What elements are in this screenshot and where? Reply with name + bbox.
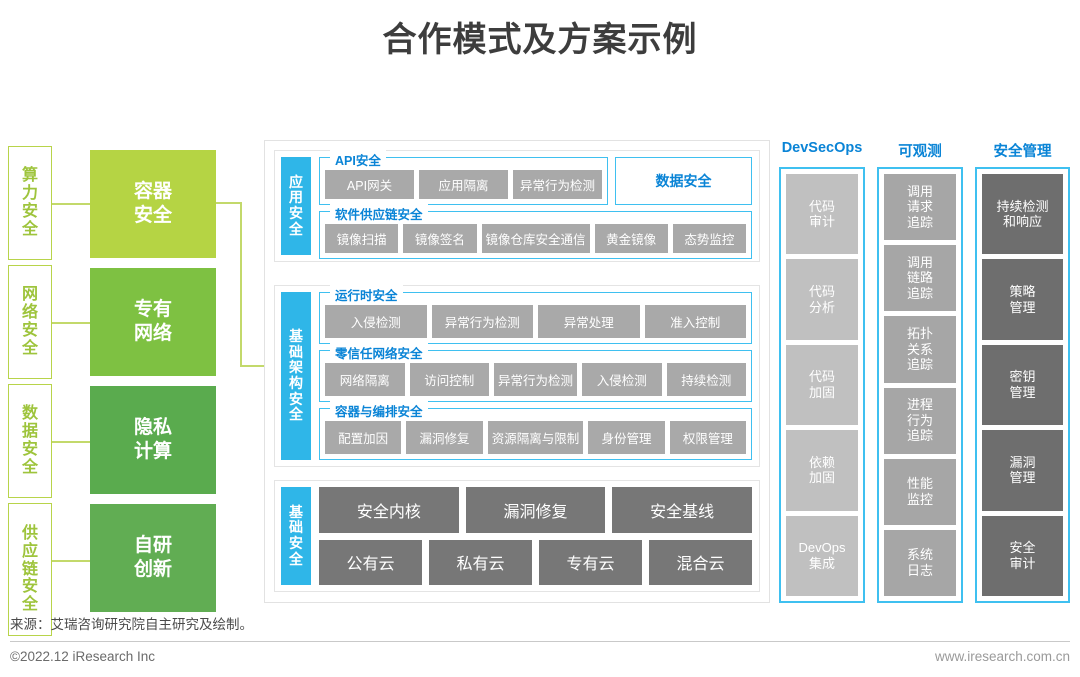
chip-vulnerability-fix[interactable]: 漏洞修复 <box>406 421 482 454</box>
item-topology-relation-tracing[interactable]: 拓扑 关系 追踪 <box>884 316 956 382</box>
chip-image-scan[interactable]: 镜像扫描 <box>325 224 398 253</box>
band-label-application-security: 应用安全 <box>281 157 311 255</box>
item-line2: 管理 <box>1009 300 1035 316</box>
item-line1: 进程 <box>907 397 933 413</box>
bracket-bottom-line <box>240 365 264 367</box>
chip-anomaly-behavior-detection[interactable]: 异常行为检测 <box>513 170 602 199</box>
chip-api-gateway[interactable]: API网关 <box>325 170 414 199</box>
chip-anomaly-behavior-detection[interactable]: 异常行为检测 <box>494 363 577 396</box>
item-performance-monitoring[interactable]: 性能 监控 <box>884 459 956 525</box>
pillar-line2: 计算 <box>134 440 172 464</box>
item-line3: 追踪 <box>907 357 933 373</box>
item-line2: 管理 <box>1009 385 1035 401</box>
item-line1: 代码 <box>809 284 835 300</box>
item-line2: 请求 <box>907 199 933 215</box>
group-legend: 软件供应链安全 <box>330 204 428 223</box>
item-dependency-hardening[interactable]: 依赖 加固 <box>786 430 858 510</box>
item-line2: 监控 <box>907 492 933 508</box>
box-data-security[interactable]: 数据安全 <box>615 157 752 205</box>
column-title-security-management: 安全管理 <box>975 140 1070 161</box>
item-vulnerability-management[interactable]: 漏洞 管理 <box>982 430 1063 510</box>
connector-line-1 <box>52 203 90 205</box>
chip-app-isolation[interactable]: 应用隔离 <box>419 170 508 199</box>
chip-intrusion-detection[interactable]: 入侵检测 <box>325 305 427 338</box>
chip-access-control[interactable]: 访问控制 <box>410 363 490 396</box>
chip-vulnerability-fix[interactable]: 漏洞修复 <box>466 487 606 533</box>
chip-network-isolation[interactable]: 网络隔离 <box>325 363 405 396</box>
group-api-security: API安全 API网关 应用隔离 异常行为检测 <box>319 157 608 205</box>
left-category-labels: 算力安全 网络安全 数据安全 供应链安全 <box>8 146 52 636</box>
item-line2: 分析 <box>809 300 835 316</box>
item-line2: 加固 <box>809 470 835 486</box>
item-process-behavior-tracing[interactable]: 进程 行为 追踪 <box>884 388 956 454</box>
item-line3: 追踪 <box>907 215 933 231</box>
connector-line-2 <box>52 322 90 324</box>
item-line1: DevOps <box>799 540 846 556</box>
column-devsecops: DevSecOps 代码 审计 代码 分析 代码 加固 <box>779 167 865 603</box>
chip-registry-secure-comm[interactable]: 镜像仓库安全通信 <box>482 224 590 253</box>
group-legend: 零信任网络安全 <box>330 343 428 362</box>
band-label-text: 应用安全 <box>289 175 304 238</box>
pillar-line2: 安全 <box>134 204 172 228</box>
pillar-line1: 自研 <box>134 534 172 558</box>
left-label-data-security: 数据安全 <box>8 384 52 498</box>
item-line1: 系统 <box>907 547 933 563</box>
item-key-management[interactable]: 密钥 管理 <box>982 345 1063 425</box>
item-line1: 代码 <box>809 369 835 385</box>
item-continuous-detection-response[interactable]: 持续检测 和响应 <box>982 174 1063 254</box>
band-body: 安全内核 漏洞修复 安全基线 公有云 私有云 专有云 混合云 <box>311 481 759 591</box>
website-url: www.iresearch.com.cn <box>935 649 1070 664</box>
left-label-network-security: 网络安全 <box>8 265 52 379</box>
page-title: 合作模式及方案示例 <box>0 12 1080 61</box>
chip-permission-management[interactable]: 权限管理 <box>670 421 746 454</box>
item-line1: 漏洞 <box>1009 455 1035 471</box>
item-line1: 调用 <box>907 255 933 271</box>
group-software-supply-chain-security: 软件供应链安全 镜像扫描 镜像签名 镜像仓库安全通信 黄金镜像 态势监控 <box>319 211 752 259</box>
band-infrastructure-security: 基础架构安全 运行时安全 入侵检测 异常行为检测 异常处理 准入控制 零信任网络… <box>274 285 760 467</box>
item-code-audit[interactable]: 代码 审计 <box>786 174 858 254</box>
item-line1: 持续检测 <box>996 199 1048 215</box>
item-line1: 安全 <box>1009 540 1035 556</box>
item-line1: 拓扑 <box>907 326 933 342</box>
item-line1: 性能 <box>907 476 933 492</box>
item-line2: 管理 <box>1009 470 1035 486</box>
band-label-text: 基础架构安全 <box>289 329 304 423</box>
item-line2: 行为 <box>907 413 933 429</box>
item-call-request-tracing[interactable]: 调用 请求 追踪 <box>884 174 956 240</box>
item-line1: 代码 <box>809 199 835 215</box>
pillar-self-research-innovation[interactable]: 自研 创新 <box>90 504 216 612</box>
base-security-row-1: 安全内核 漏洞修复 安全基线 <box>319 487 752 533</box>
pillar-line2: 创新 <box>134 558 172 582</box>
chip-dedicated-cloud[interactable]: 专有云 <box>539 540 642 586</box>
pillar-private-network[interactable]: 专有 网络 <box>90 268 216 376</box>
chip-secure-kernel[interactable]: 安全内核 <box>319 487 459 533</box>
chip-anomaly-handling[interactable]: 异常处理 <box>538 305 640 338</box>
group-container-orchestration-security: 容器与编排安全 配置加因 漏洞修复 资源隔离与限制 身份管理 权限管理 <box>319 408 752 460</box>
pillar-line1: 隐私 <box>134 416 172 440</box>
column-security-management: 安全管理 持续检测 和响应 策略 管理 密钥 管理 <box>975 167 1070 603</box>
band-body: API安全 API网关 应用隔离 异常行为检测 数据安全 软件供应链安全 镜像扫… <box>311 151 759 261</box>
band-label-base-security: 基础安全 <box>281 487 311 585</box>
item-system-logs[interactable]: 系统 日志 <box>884 530 956 596</box>
group-legend: 运行时安全 <box>330 285 403 304</box>
group-zero-trust-network-security: 零信任网络安全 网络隔离 访问控制 异常行为检测 入侵检测 持续检测 <box>319 350 752 402</box>
column-frame: 持续检测 和响应 策略 管理 密钥 管理 漏洞 管理 <box>975 167 1070 603</box>
main-architecture-panel: 应用安全 API安全 API网关 应用隔离 异常行为检测 数据安全 软件供应链安… <box>264 140 770 603</box>
chip-continuous-detection[interactable]: 持续检测 <box>667 363 747 396</box>
group-runtime-security: 运行时安全 入侵检测 异常行为检测 异常处理 准入控制 <box>319 292 752 344</box>
item-line1: 策略 <box>1009 284 1035 300</box>
item-line1: 密钥 <box>1009 369 1035 385</box>
green-pillar-column: 容器 安全 专有 网络 隐私 计算 自研 创新 <box>90 150 216 612</box>
group-legend: 容器与编排安全 <box>330 401 428 420</box>
item-policy-management[interactable]: 策略 管理 <box>982 259 1063 339</box>
pillar-privacy-computing[interactable]: 隐私 计算 <box>90 386 216 494</box>
item-line2: 加固 <box>809 385 835 401</box>
connector-line-4 <box>52 560 90 562</box>
chip-hybrid-cloud[interactable]: 混合云 <box>649 540 752 586</box>
chip-posture-monitoring[interactable]: 态势监控 <box>673 224 746 253</box>
chip-image-signing[interactable]: 镜像签名 <box>403 224 476 253</box>
chip-public-cloud[interactable]: 公有云 <box>319 540 422 586</box>
item-line2: 集成 <box>799 556 846 572</box>
connector-line-3 <box>52 441 90 443</box>
item-line2: 审计 <box>1009 556 1035 572</box>
chip-admission-control[interactable]: 准入控制 <box>645 305 747 338</box>
item-line3: 追踪 <box>907 286 933 302</box>
item-devops-integration[interactable]: DevOps 集成 <box>786 516 858 596</box>
item-line3: 追踪 <box>907 428 933 444</box>
item-line2: 日志 <box>907 563 933 579</box>
item-line2: 和响应 <box>996 214 1048 230</box>
chip-resource-isolation-limit[interactable]: 资源隔离与限制 <box>488 421 584 454</box>
item-security-audit[interactable]: 安全 审计 <box>982 516 1063 596</box>
item-code-hardening[interactable]: 代码 加固 <box>786 345 858 425</box>
band-base-security: 基础安全 安全内核 漏洞修复 安全基线 公有云 私有云 专有云 混合云 <box>274 480 760 592</box>
left-label-text: 供应链安全 <box>22 525 39 615</box>
pillar-line1: 专有 <box>134 298 172 322</box>
pillar-line1: 容器 <box>134 180 172 204</box>
chip-private-cloud[interactable]: 私有云 <box>429 540 532 586</box>
item-line1: 依赖 <box>809 455 835 471</box>
chip-config-hardening[interactable]: 配置加因 <box>325 421 401 454</box>
item-line2: 审计 <box>809 214 835 230</box>
chip-golden-image[interactable]: 黄金镜像 <box>595 224 668 253</box>
chip-security-baseline[interactable]: 安全基线 <box>612 487 752 533</box>
chip-intrusion-detection[interactable]: 入侵检测 <box>582 363 662 396</box>
group-legend: API安全 <box>330 150 386 169</box>
base-security-row-2: 公有云 私有云 专有云 混合云 <box>319 540 752 586</box>
left-label-text: 数据安全 <box>22 405 39 477</box>
band-label-text: 基础安全 <box>289 505 304 568</box>
column-frame: 代码 审计 代码 分析 代码 加固 依赖 加固 <box>779 167 865 603</box>
column-title-observability: 可观测 <box>877 140 963 161</box>
footer-divider <box>10 641 1070 642</box>
pillar-line2: 网络 <box>134 322 172 346</box>
column-title-devsecops: DevSecOps <box>779 140 865 156</box>
source-note: 来源：艾瑞咨询研究院自主研究及绘制。 <box>10 613 253 633</box>
item-line2: 关系 <box>907 342 933 358</box>
left-label-text: 算力安全 <box>22 167 39 239</box>
copyright-text: ©2022.12 iResearch Inc <box>10 649 155 664</box>
band-body: 运行时安全 入侵检测 异常行为检测 异常处理 准入控制 零信任网络安全 网络隔离… <box>311 286 759 466</box>
bracket-top-line <box>216 202 241 204</box>
item-code-analysis[interactable]: 代码 分析 <box>786 259 858 339</box>
chip-anomaly-behavior-detection[interactable]: 异常行为检测 <box>432 305 534 338</box>
item-line2: 链路 <box>907 270 933 286</box>
chip-identity-management[interactable]: 身份管理 <box>588 421 664 454</box>
band-application-security: 应用安全 API安全 API网关 应用隔离 异常行为检测 数据安全 软件供应链安… <box>274 150 760 262</box>
left-label-text: 网络安全 <box>22 286 39 358</box>
item-line1: 调用 <box>907 184 933 200</box>
left-label-compute-security: 算力安全 <box>8 146 52 260</box>
item-call-chain-tracing[interactable]: 调用 链路 追踪 <box>884 245 956 311</box>
pillar-container-security[interactable]: 容器 安全 <box>90 150 216 258</box>
bracket-vertical-line <box>240 202 242 366</box>
column-frame: 调用 请求 追踪 调用 链路 追踪 拓扑 关系 追踪 <box>877 167 963 603</box>
band-label-infrastructure-security: 基础架构安全 <box>281 292 311 460</box>
column-observability: 可观测 调用 请求 追踪 调用 链路 追踪 拓扑 关系 <box>877 167 963 603</box>
